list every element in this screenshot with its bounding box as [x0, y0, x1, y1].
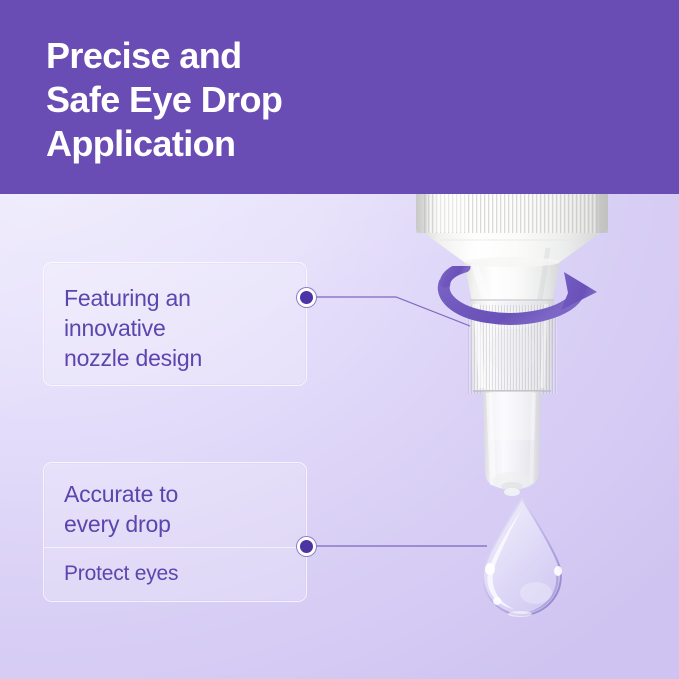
twist-rotation-arrow [425, 266, 605, 328]
product-feature-graphic: Featuring an innovative nozzle design Ac… [0, 0, 679, 679]
filled-circle-icon-nozzle[interactable] [297, 288, 316, 307]
callout-connector-lines [0, 0, 679, 679]
filled-circle-icon-drop[interactable] [297, 537, 316, 556]
